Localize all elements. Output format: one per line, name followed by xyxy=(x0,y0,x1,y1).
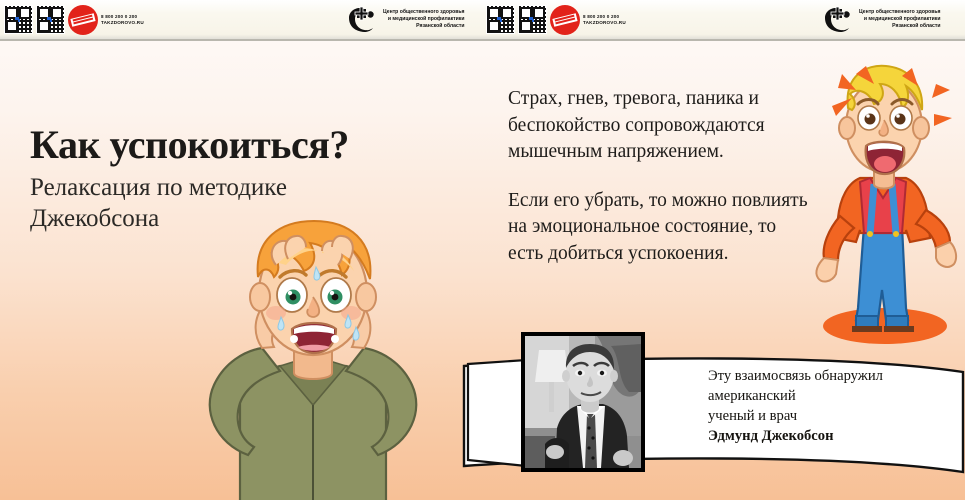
org-line-1: Центр общественного здоровья xyxy=(383,9,464,16)
org-line-2: и медицинской профилактики xyxy=(383,16,464,23)
caption-line-2: американский xyxy=(708,386,958,406)
org-line-3: Рязанской области xyxy=(383,23,464,30)
header-block-1: 8 800 200 0 200 TAKZDOROVO.RU xyxy=(4,0,144,39)
edmund-jacobson-photo xyxy=(521,332,645,472)
header-block-2: 8 800 200 0 200 TAKZDOROVO.RU xyxy=(486,0,626,39)
contact-info: 8 800 200 0 200 TAKZDOROVO.RU xyxy=(583,14,626,26)
qr-code-icon[interactable] xyxy=(486,5,515,34)
body-text-group: Страх, гнев, тревога, паника и беспокойс… xyxy=(508,86,808,267)
org-line-1: Центр общественного здоровья xyxy=(859,9,940,16)
header-emblem-right: Центр общественного здоровья и медицинск… xyxy=(822,0,940,39)
org-line-2: и медицинской профилактики xyxy=(859,16,940,23)
contact-info: 8 800 200 0 200 TAKZDOROVO.RU xyxy=(101,14,144,26)
health-center-emblem-icon xyxy=(346,5,378,35)
caption-line-4: Эдмунд Джекобсон xyxy=(708,426,958,446)
qr-code-icon[interactable] xyxy=(36,5,65,34)
takzdorovo-stamp-icon[interactable] xyxy=(68,5,98,35)
org-line-3: Рязанской области xyxy=(859,23,940,30)
subtitle-line-1: Релаксация по методике xyxy=(30,172,480,203)
caption-line-1: Эту взаимосвязь обнаружил xyxy=(708,366,958,386)
slide-canvas: 8 800 200 0 200 TAKZDOROVO.RU Цент xyxy=(0,0,965,500)
screaming-man-illustration xyxy=(808,58,963,348)
takzdorovo-stamp-icon[interactable] xyxy=(550,5,580,35)
header-bar: 8 800 200 0 200 TAKZDOROVO.RU Цент xyxy=(0,0,965,41)
org-name: Центр общественного здоровья и медицинск… xyxy=(383,9,464,30)
site-url[interactable]: TAKZDOROVO.RU xyxy=(583,20,626,26)
caption-line-3: ученый и врач xyxy=(708,406,958,426)
org-name: Центр общественного здоровья и медицинск… xyxy=(859,9,940,30)
qr-code-icon[interactable] xyxy=(518,5,547,34)
qr-code-icon[interactable] xyxy=(4,5,33,34)
body-paragraph-1: Страх, гнев, тревога, паника и беспокойс… xyxy=(508,86,808,166)
site-url[interactable]: TAKZDOROVO.RU xyxy=(101,20,144,26)
header-emblem-center: Центр общественного здоровья и медицинск… xyxy=(346,0,464,39)
health-center-emblem-icon xyxy=(822,5,854,35)
panicking-boy-illustration xyxy=(188,205,438,500)
page-title: Как успокоиться? xyxy=(30,122,480,168)
caption-text: Эту взаимосвязь обнаружил американский у… xyxy=(708,366,958,446)
body-paragraph-2: Если его убрать, то можно повлиять на эм… xyxy=(508,188,808,268)
caption-ribbon-tail xyxy=(466,358,528,468)
